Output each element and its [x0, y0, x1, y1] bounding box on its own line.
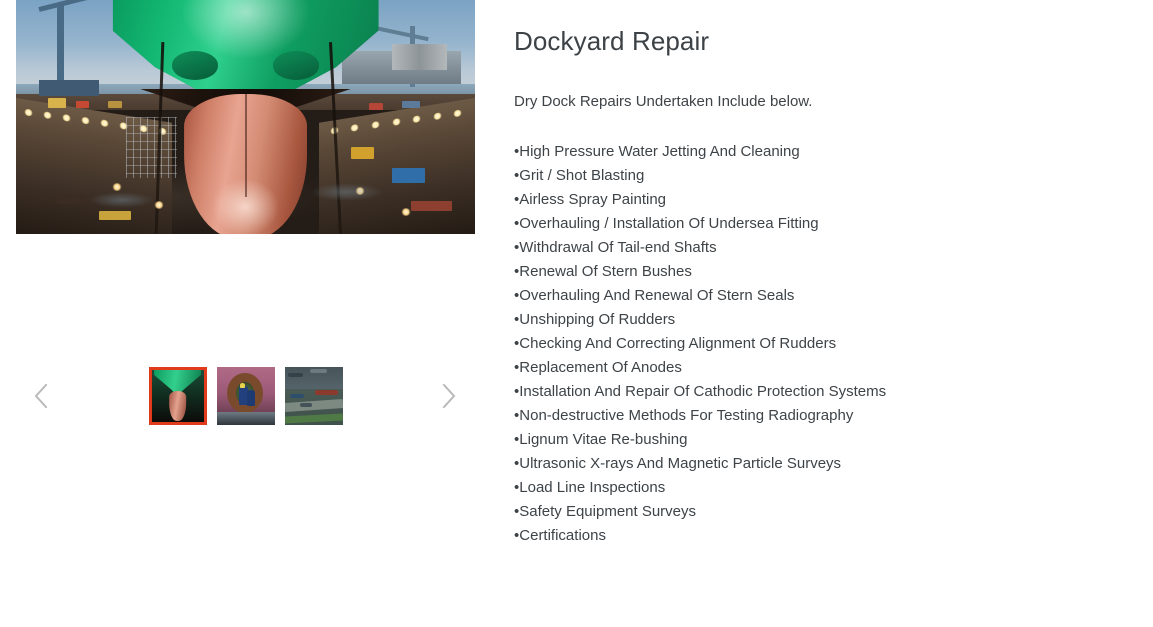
yard-equipment-2: [76, 101, 90, 108]
yard-equipment-1: [48, 98, 66, 107]
list-item: •Load Line Inspections: [514, 476, 1134, 500]
thumbnail-2-deck: [217, 412, 275, 425]
list-item-label: Withdrawal Of Tail-end Shafts: [519, 239, 716, 256]
list-item-label: Load Line Inspections: [519, 479, 665, 496]
gallery-thumbnail-2[interactable]: [217, 367, 275, 425]
thumbnail-2-helmet: [240, 383, 246, 388]
thumbnail-3-vessel-3: [315, 390, 338, 395]
floor-light-2: [154, 201, 164, 209]
list-item-label: Unshipping Of Rudders: [519, 311, 675, 328]
hero-image-photo: [16, 0, 475, 234]
list-item-label: Renewal Of Stern Bushes: [519, 263, 692, 280]
list-item: •Checking And Correcting Alignment Of Ru…: [514, 332, 1134, 356]
bow-centerline-seam: [245, 94, 247, 197]
dock-block-5: [411, 201, 452, 210]
list-item-label: Non-destructive Methods For Testing Radi…: [519, 407, 853, 424]
list-item-label: Certifications: [519, 527, 606, 544]
list-item-label: Checking And Correcting Alignment Of Rud…: [519, 335, 836, 352]
list-item: •Grit / Shot Blasting: [514, 164, 1134, 188]
list-item-label: Overhauling / Installation Of Undersea F…: [519, 215, 818, 232]
list-item-label: Grit / Shot Blasting: [519, 167, 644, 184]
dock-block-1: [57, 194, 85, 203]
gallery-thumbnail-strip: [16, 366, 475, 426]
scaffolding: [126, 117, 176, 178]
list-item-label: Safety Equipment Surveys: [519, 503, 696, 520]
list-item-label: Replacement Of Anodes: [519, 359, 682, 376]
list-item-label: Airless Spray Painting: [519, 191, 666, 208]
floor-light-1: [112, 183, 122, 191]
dock-puddle-1: [89, 192, 153, 208]
page-title: Dockyard Repair: [514, 25, 709, 57]
list-item: •Overhauling And Renewal Of Stern Seals: [514, 284, 1134, 308]
thumbnail-3-grass: [285, 413, 343, 423]
gallery-thumbnail-3[interactable]: [285, 367, 343, 425]
list-item-label: Installation And Repair Of Cathodic Prot…: [519, 383, 886, 400]
list-item: •Non-destructive Methods For Testing Rad…: [514, 404, 1134, 428]
list-item: •Replacement Of Anodes: [514, 356, 1134, 380]
list-item-label: Overhauling And Renewal Of Stern Seals: [519, 287, 794, 304]
list-item: •Renewal Of Stern Bushes: [514, 260, 1134, 284]
list-item-label: Lignum Vitae Re-bushing: [519, 431, 687, 448]
list-item: •Unshipping Of Rudders: [514, 308, 1134, 332]
list-item: •Withdrawal Of Tail-end Shafts: [514, 236, 1134, 260]
hero-image[interactable]: [16, 0, 475, 234]
image-gallery: [0, 0, 492, 627]
thumbnail-1-bow: [169, 391, 187, 421]
yard-equipment-4: [402, 101, 420, 108]
dock-puddle-2: [310, 183, 383, 202]
gallery-carousel: [16, 366, 475, 426]
gallery-next-button[interactable]: [429, 366, 469, 426]
chevron-right-icon: [441, 382, 457, 410]
services-list: •High Pressure Water Jetting And Cleanin…: [514, 140, 1134, 548]
list-item: •Installation And Repair Of Cathodic Pro…: [514, 380, 1134, 404]
thumbnail-3-quay: [285, 399, 343, 412]
list-item: •Certifications: [514, 524, 1134, 548]
yard-equipment-3: [108, 101, 122, 108]
list-item: •Safety Equipment Surveys: [514, 500, 1134, 524]
thumbnail-3-vessel-5: [300, 403, 313, 407]
list-item-label: High Pressure Water Jetting And Cleaning: [519, 143, 799, 160]
thumbnail-3-vessel-4: [290, 394, 304, 398]
intro-text: Dry Dock Repairs Undertaken Include belo…: [514, 92, 812, 112]
thumbnail-3-vessel-1: [288, 373, 303, 378]
dockside-silo: [392, 44, 447, 70]
list-item: •Ultrasonic X-rays And Magnetic Particle…: [514, 452, 1134, 476]
list-item: •Overhauling / Installation Of Undersea …: [514, 212, 1134, 236]
list-item: •Lignum Vitae Re-bushing: [514, 428, 1134, 452]
crane-base: [39, 80, 99, 96]
yard-equipment-5: [369, 103, 383, 110]
thumbnail-3-vessel-2: [310, 369, 327, 373]
gallery-thumbnail-1[interactable]: [149, 367, 207, 425]
dock-block-2: [99, 211, 131, 220]
dock-block-3: [392, 168, 424, 182]
hull-fairlead-left: [172, 51, 218, 79]
hull-fairlead-right: [273, 51, 319, 79]
dock-block-4: [351, 147, 374, 159]
crane-mast-icon: [57, 5, 64, 89]
list-item-label: Ultrasonic X-rays And Magnetic Particle …: [519, 455, 841, 472]
thumbnail-2-worker-2: [247, 390, 255, 406]
list-item: •Airless Spray Painting: [514, 188, 1134, 212]
list-item: •High Pressure Water Jetting And Cleanin…: [514, 140, 1134, 164]
